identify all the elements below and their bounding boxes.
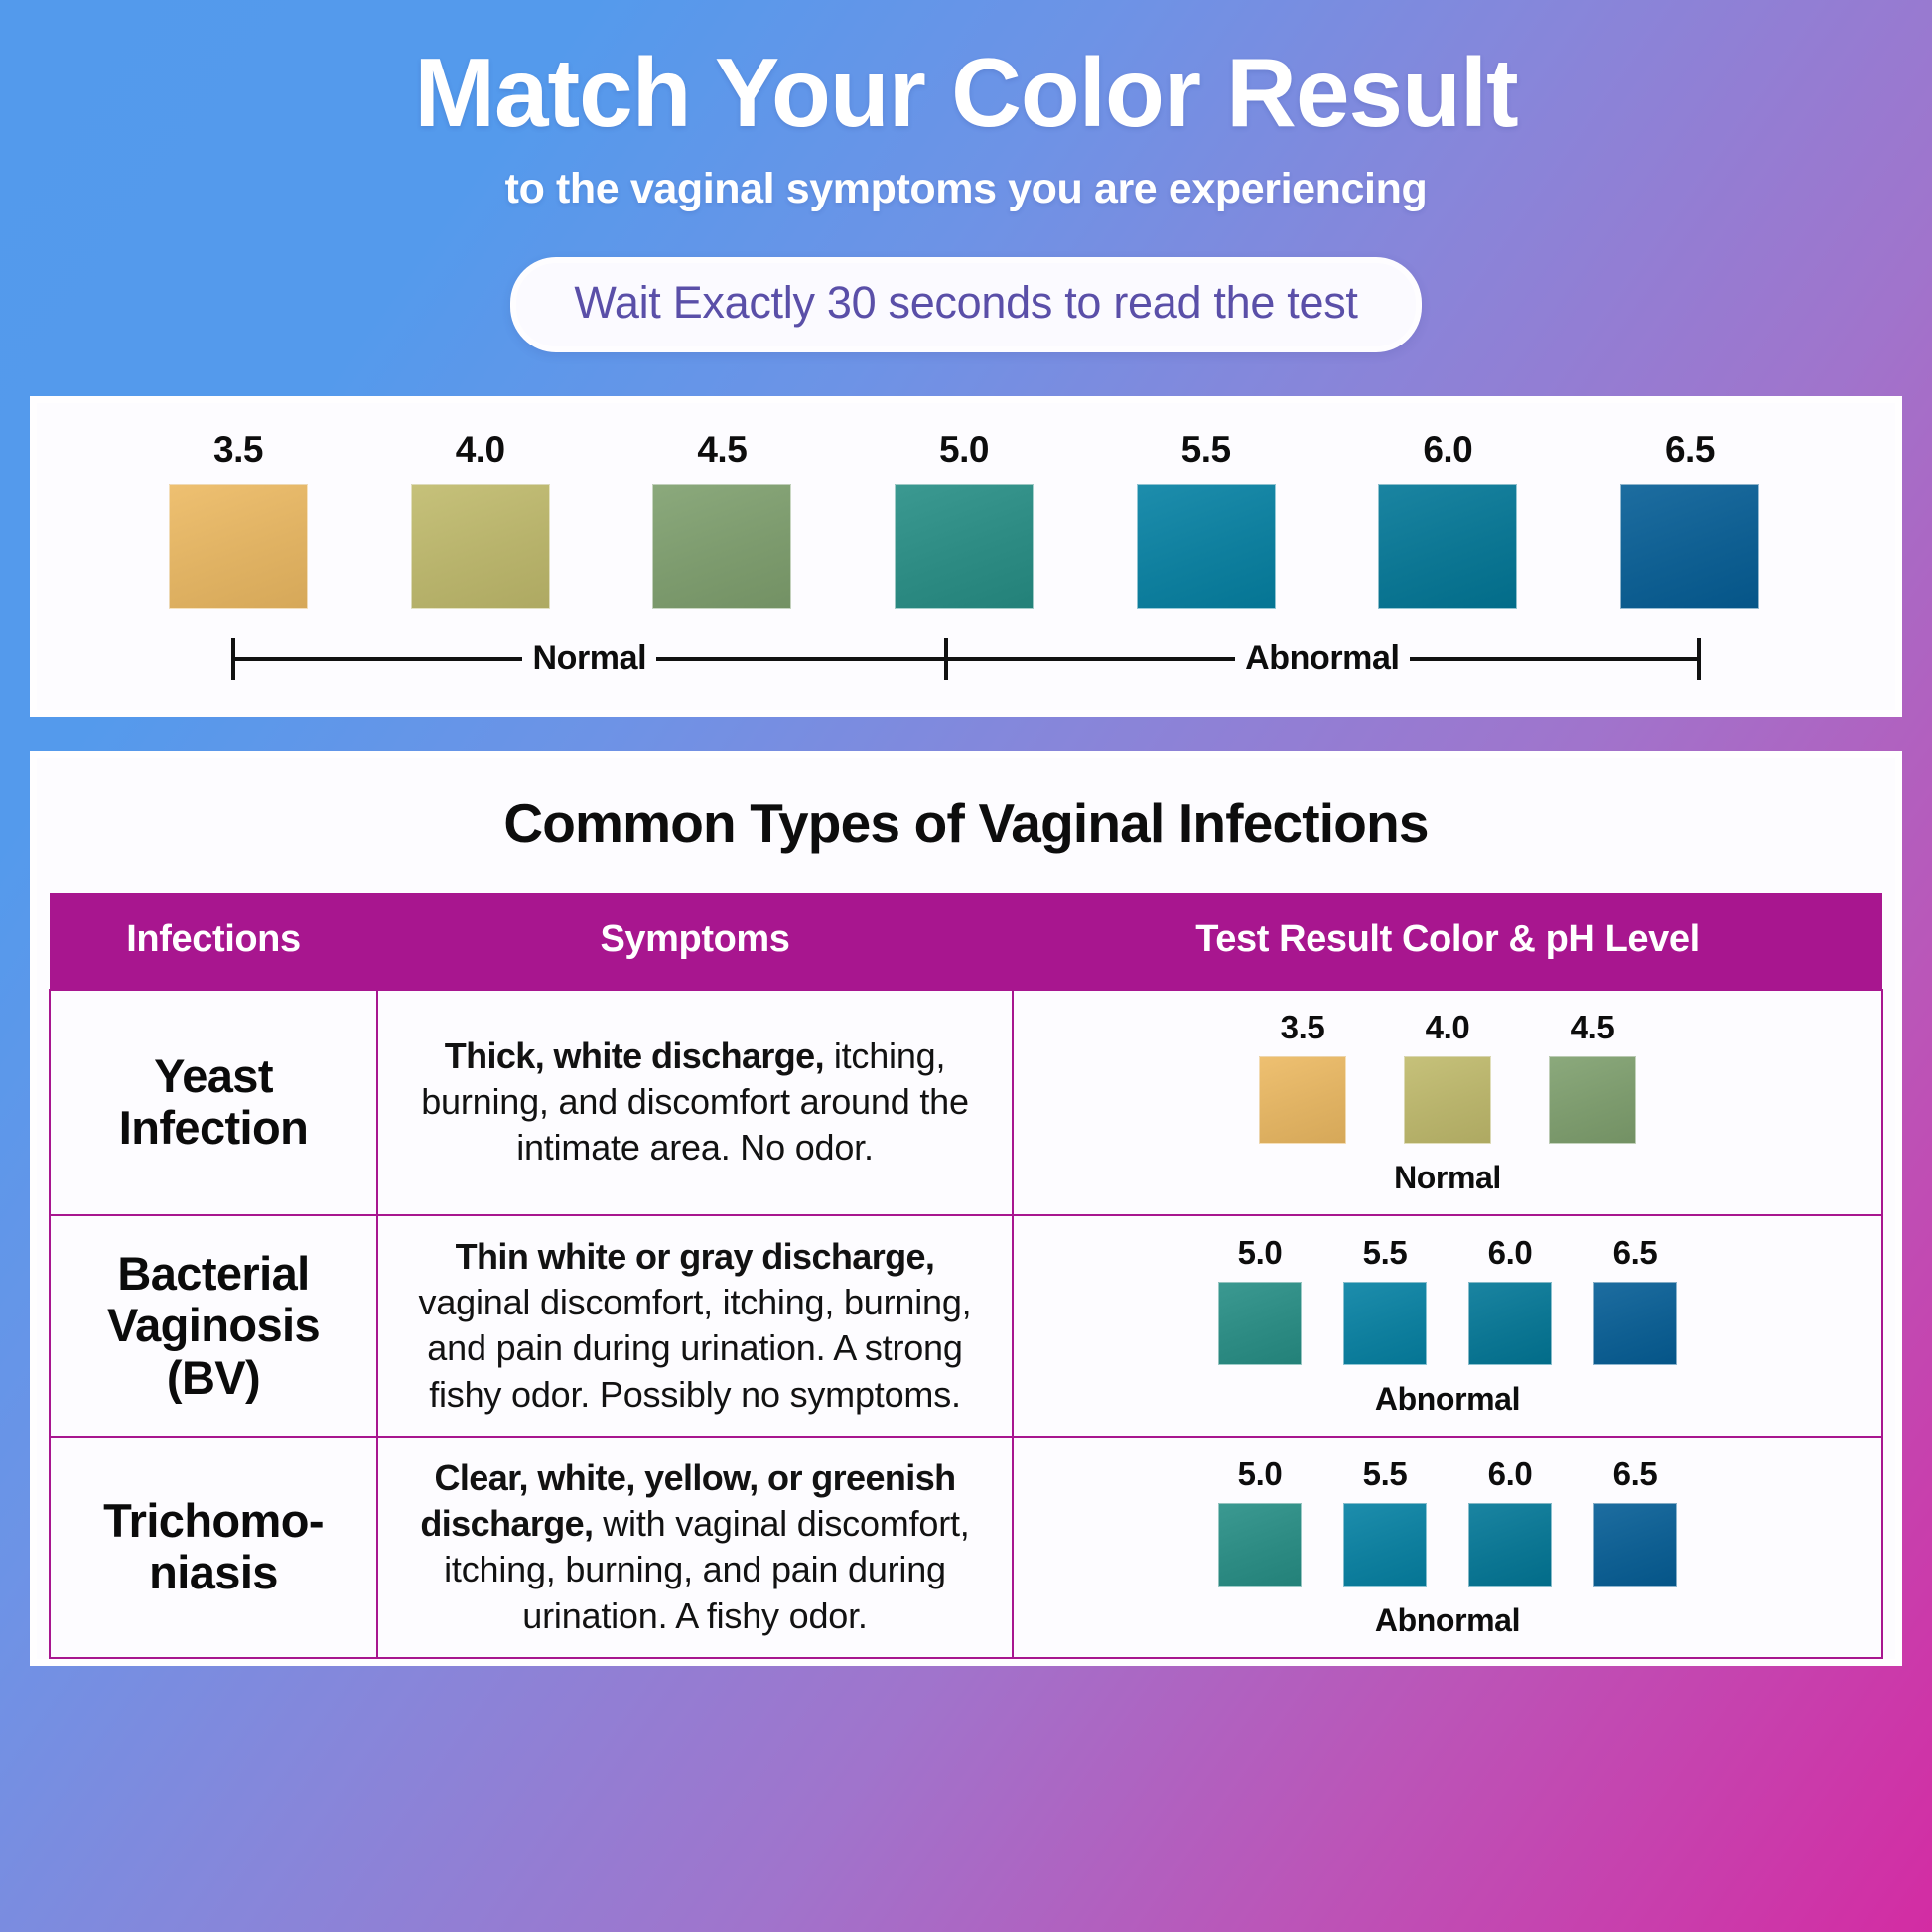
ph-value-label: 4.5 (697, 429, 747, 471)
result-color-swatch (1343, 1503, 1427, 1587)
ph-color-swatch (411, 484, 550, 609)
symptoms-text: Clear, white, yellow, or greenish discha… (388, 1455, 1002, 1638)
ph-value-label: 6.5 (1665, 429, 1715, 471)
result-range-caption: Abnormal (1375, 1381, 1520, 1418)
range-line-abnormal-right (1410, 657, 1697, 661)
ph-color-swatch (1137, 484, 1276, 609)
result-ph-label: 4.5 (1571, 1009, 1615, 1046)
table-title: Common Types of Vaginal Infections (37, 791, 1895, 855)
result-swatch-item: 3.5 (1259, 1009, 1346, 1144)
cell-test-result: 3.54.04.5Normal (1013, 990, 1882, 1215)
ph-value-label: 3.5 (213, 429, 263, 471)
ph-swatch-item: 5.0 (890, 429, 1038, 609)
result-ph-label: 6.5 (1613, 1455, 1658, 1493)
ph-color-swatch (1378, 484, 1517, 609)
table-header-row: Infections Symptoms Test Result Color & … (50, 893, 1882, 990)
symptoms-highlight: Clear, white, yellow, or greenish discha… (420, 1457, 955, 1544)
page-title: Match Your Color Result (60, 44, 1872, 143)
ph-value-label: 6.0 (1423, 429, 1472, 471)
ph-color-swatch (169, 484, 308, 609)
table-row: BacterialVaginosis(BV)Thin white or gray… (50, 1215, 1882, 1437)
range-line-normal-left (235, 657, 522, 661)
result-swatch-block: 5.05.56.06.5Abnormal (1024, 1234, 1871, 1418)
result-ph-label: 6.5 (1613, 1234, 1658, 1272)
page-header: Match Your Color Result to the vaginal s… (0, 0, 1932, 352)
infection-name-text: YeastInfection (61, 1050, 366, 1155)
result-swatch-item: 5.0 (1218, 1455, 1302, 1587)
result-swatch-item: 6.5 (1593, 1455, 1677, 1587)
cell-symptoms: Thin white or gray discharge, vaginal di… (377, 1215, 1013, 1437)
symptoms-highlight: Thin white or gray discharge, (456, 1236, 935, 1277)
result-ph-label: 5.5 (1363, 1234, 1408, 1272)
table-body: YeastInfectionThick, white discharge, it… (50, 990, 1882, 1658)
result-swatch-row: 5.05.56.06.5 (1218, 1234, 1677, 1365)
ph-value-label: 4.0 (456, 429, 505, 471)
result-ph-label: 3.5 (1281, 1009, 1325, 1046)
result-swatch-item: 5.5 (1343, 1234, 1427, 1365)
result-color-swatch (1343, 1282, 1427, 1365)
result-color-swatch (1259, 1056, 1346, 1144)
column-header-symptoms: Symptoms (377, 893, 1013, 990)
result-range-caption: Normal (1394, 1160, 1501, 1196)
result-color-swatch (1218, 1282, 1302, 1365)
result-ph-label: 5.5 (1363, 1455, 1408, 1493)
ph-swatch-item: 4.0 (406, 429, 555, 609)
ph-swatch-row: 3.54.04.55.05.56.06.5 (37, 429, 1895, 609)
cell-test-result: 5.05.56.06.5Abnormal (1013, 1437, 1882, 1658)
infections-table-card: Common Types of Vaginal Infections Infec… (30, 751, 1902, 1666)
infographic-page: { "header": { "title": "Match Your Color… (0, 0, 1932, 1932)
ph-swatch-item: 5.5 (1132, 429, 1281, 609)
ph-value-label: 5.0 (939, 429, 989, 471)
result-swatch-item: 6.5 (1593, 1234, 1677, 1365)
result-ph-label: 5.0 (1238, 1455, 1283, 1493)
cell-infection-name: BacterialVaginosis(BV) (50, 1215, 377, 1437)
cell-symptoms: Clear, white, yellow, or greenish discha… (377, 1437, 1013, 1658)
result-color-swatch (1549, 1056, 1636, 1144)
symptoms-highlight: Thick, white discharge, (445, 1035, 824, 1076)
column-header-test-result: Test Result Color & pH Level (1013, 893, 1882, 990)
range-line-normal-right (656, 657, 943, 661)
cell-test-result: 5.05.56.06.5Abnormal (1013, 1215, 1882, 1437)
result-swatch-item: 4.0 (1404, 1009, 1491, 1144)
result-swatch-item: 6.0 (1468, 1455, 1552, 1587)
infection-name-text: BacterialVaginosis(BV) (61, 1248, 366, 1405)
result-swatch-row: 3.54.04.5 (1259, 1009, 1636, 1144)
ph-value-label: 5.5 (1181, 429, 1231, 471)
result-ph-label: 6.0 (1488, 1234, 1533, 1272)
wait-notice-pill: Wait Exactly 30 seconds to read the test (510, 257, 1421, 352)
result-color-swatch (1468, 1282, 1552, 1365)
wait-notice-wrap: Wait Exactly 30 seconds to read the test (60, 257, 1872, 352)
ph-scale-card: 3.54.04.55.05.56.06.5 Normal Abnormal (30, 396, 1902, 717)
page-subtitle: to the vaginal symptoms you are experien… (60, 165, 1872, 213)
result-swatch-item: 5.0 (1218, 1234, 1302, 1365)
range-tick-end (1697, 638, 1701, 680)
result-color-swatch (1468, 1503, 1552, 1587)
result-color-swatch (1218, 1503, 1302, 1587)
result-swatch-item: 4.5 (1549, 1009, 1636, 1144)
table-row: Trichomo-niasisClear, white, yellow, or … (50, 1437, 1882, 1658)
cell-symptoms: Thick, white discharge, itching, burning… (377, 990, 1013, 1215)
result-swatch-block: 5.05.56.06.5Abnormal (1024, 1455, 1871, 1639)
column-header-infections: Infections (50, 893, 377, 990)
infections-table: Infections Symptoms Test Result Color & … (49, 893, 1883, 1659)
table-row: YeastInfectionThick, white discharge, it… (50, 990, 1882, 1215)
cell-infection-name: Trichomo-niasis (50, 1437, 377, 1658)
symptoms-text: Thick, white discharge, itching, burning… (388, 1034, 1002, 1171)
symptoms-text: Thin white or gray discharge, vaginal di… (388, 1234, 1002, 1417)
result-swatch-item: 6.0 (1468, 1234, 1552, 1365)
ph-range-scale: Normal Abnormal (231, 638, 1701, 680)
range-line-abnormal-left (948, 657, 1235, 661)
result-ph-label: 6.0 (1488, 1455, 1533, 1493)
ph-color-swatch (1620, 484, 1759, 609)
result-swatch-item: 5.5 (1343, 1455, 1427, 1587)
result-color-swatch (1593, 1282, 1677, 1365)
result-color-swatch (1404, 1056, 1491, 1144)
infection-name-text: Trichomo-niasis (61, 1495, 366, 1599)
range-label-normal: Normal (522, 639, 656, 678)
ph-swatch-item: 6.5 (1615, 429, 1764, 609)
result-ph-label: 4.0 (1426, 1009, 1470, 1046)
result-swatch-block: 3.54.04.5Normal (1024, 1009, 1871, 1196)
result-swatch-row: 5.05.56.06.5 (1218, 1455, 1677, 1587)
ph-color-swatch (652, 484, 791, 609)
range-label-abnormal: Abnormal (1235, 639, 1409, 678)
ph-color-swatch (895, 484, 1034, 609)
result-ph-label: 5.0 (1238, 1234, 1283, 1272)
result-color-swatch (1593, 1503, 1677, 1587)
result-range-caption: Abnormal (1375, 1602, 1520, 1639)
ph-swatch-item: 3.5 (164, 429, 313, 609)
ph-swatch-item: 6.0 (1373, 429, 1522, 609)
ph-swatch-item: 4.5 (647, 429, 796, 609)
cell-infection-name: YeastInfection (50, 990, 377, 1215)
